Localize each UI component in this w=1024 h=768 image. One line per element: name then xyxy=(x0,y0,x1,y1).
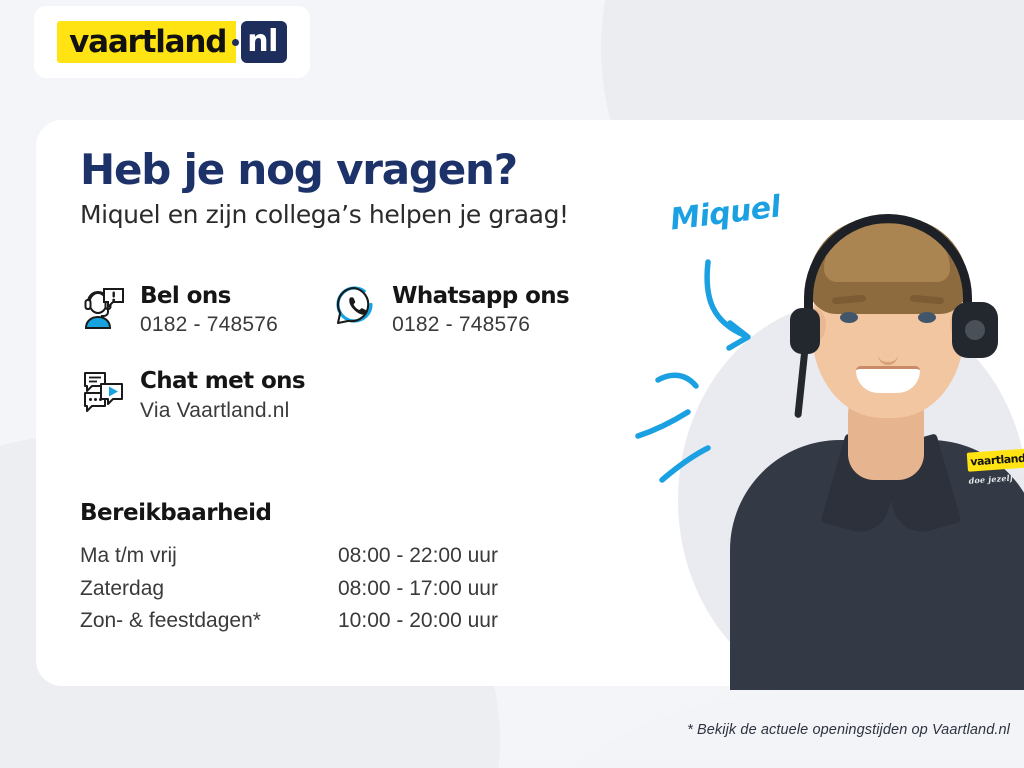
footer-note: * Bekijk de actuele openingstijden op Va… xyxy=(0,722,1010,738)
contact-whatsapp-title: Whatsapp ons xyxy=(392,283,569,309)
contact-methods: Bel ons 0182 - 748576 Whatsapp ons 0182 … xyxy=(80,282,700,423)
support-agent-icon xyxy=(80,282,126,330)
availability-title: Bereikbaarheid xyxy=(80,500,600,526)
contact-chat-title: Chat met ons xyxy=(140,368,305,394)
polo-logo-wordmark-block: vaartland xyxy=(967,449,1024,472)
availability-day: Ma t/m vrij xyxy=(80,540,338,573)
contact-phone-number[interactable]: 0182 - 748576 xyxy=(140,313,278,337)
logo-separator-dot-icon xyxy=(232,39,239,46)
contact-phone-text: Bel ons 0182 - 748576 xyxy=(140,282,278,337)
contact-whatsapp-number[interactable]: 0182 - 748576 xyxy=(392,313,569,337)
logo-tld-block: nl xyxy=(241,21,287,63)
agent-smile xyxy=(856,366,920,393)
polo-logo-wordmark-text: vaartland xyxy=(970,453,1024,468)
brand-logo-badge[interactable]: vaartland nl xyxy=(34,6,310,78)
whatsapp-icon xyxy=(332,282,378,330)
availability-hours: 10:00 - 20:00 uur xyxy=(338,605,498,638)
page-subtitle: Miquel en zijn collega’s helpen je graag… xyxy=(80,200,680,230)
contact-row-primary: Bel ons 0182 - 748576 Whatsapp ons 0182 … xyxy=(80,282,700,337)
contact-row-secondary: Chat met ons Via Vaartland.nl xyxy=(80,367,700,422)
agent-illustration: vaartland nl doe jezelf een plezier xyxy=(720,140,1024,690)
contact-item-chat[interactable]: Chat met ons Via Vaartland.nl xyxy=(80,367,305,422)
contact-phone-title: Bel ons xyxy=(140,283,278,309)
page-title: Heb je nog vragen? xyxy=(80,148,680,192)
availability-section: Bereikbaarheid Ma t/m vrij 08:00 - 22:00… xyxy=(80,500,600,638)
availability-row: Zaterdag 08:00 - 17:00 uur xyxy=(80,573,600,606)
chat-bubbles-icon xyxy=(80,367,126,415)
contact-chat-text: Chat met ons Via Vaartland.nl xyxy=(140,367,305,422)
logo-tld-text: nl xyxy=(247,27,278,57)
contact-columns: Bel ons 0182 - 748576 Whatsapp ons 0182 … xyxy=(80,282,569,337)
polo-tagline: doe jezelf een plezier xyxy=(968,470,1024,485)
contact-whatsapp-text: Whatsapp ons 0182 - 748576 xyxy=(392,282,569,337)
polo-chest-logo: vaartland nl doe jezelf een plezier xyxy=(967,447,1024,492)
availability-row: Ma t/m vrij 08:00 - 22:00 uur xyxy=(80,540,600,573)
headset-earcup-right-icon xyxy=(952,302,998,358)
availability-row: Zon- & feestdagen* 10:00 - 20:00 uur xyxy=(80,605,600,638)
contact-item-phone[interactable]: Bel ons 0182 - 748576 xyxy=(80,282,278,337)
availability-day: Zon- & feestdagen* xyxy=(80,605,338,638)
availability-day: Zaterdag xyxy=(80,573,338,606)
availability-hours: 08:00 - 22:00 uur xyxy=(338,540,498,573)
vaartland-logo: vaartland nl xyxy=(57,21,287,63)
contact-item-whatsapp[interactable]: Whatsapp ons 0182 - 748576 xyxy=(332,282,569,337)
logo-wordmark-block: vaartland xyxy=(57,21,236,63)
logo-wordmark-text: vaartland xyxy=(69,27,226,58)
headset-headband-icon xyxy=(804,214,972,324)
agent-nose xyxy=(878,336,898,365)
hero-text-block: Heb je nog vragen? Miquel en zijn colleg… xyxy=(80,148,680,230)
availability-hours: 08:00 - 17:00 uur xyxy=(338,573,498,606)
headset-microphone-icon xyxy=(794,346,808,418)
agent-photo: vaartland nl doe jezelf een plezier xyxy=(620,120,1024,690)
contact-chat-link[interactable]: Via Vaartland.nl xyxy=(140,399,305,423)
